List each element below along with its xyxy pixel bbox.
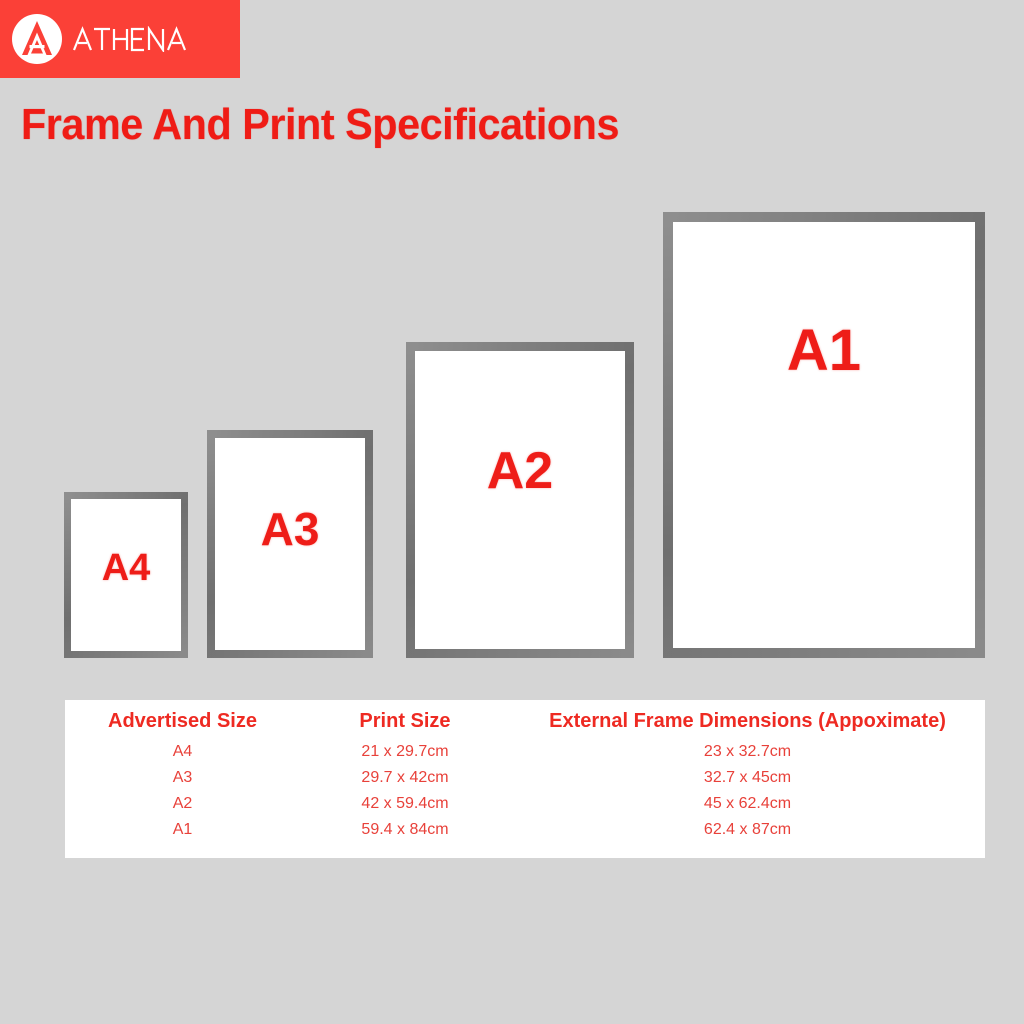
frame-a4: A4 [64,492,188,658]
table-cell: A1 [65,817,300,843]
table-row: A329.7 x 42cm32.7 x 45cm [65,765,985,791]
table-cell: A2 [65,791,300,817]
frame-label-a2: A2 [487,445,553,497]
table-cell: 32.7 x 45cm [510,765,985,791]
frame-a1: A1 [663,212,985,658]
column-header-print-size: Print Size [300,708,510,739]
table-cell: A3 [65,765,300,791]
table-row: A242 x 59.4cm45 x 62.4cm [65,791,985,817]
table-header-row: Advertised Size Print Size External Fram… [65,708,985,739]
frame-size-comparison: A4A3A2A1 [0,0,1024,1024]
table-cell: 42 x 59.4cm [300,791,510,817]
table-row: A159.4 x 84cm62.4 x 87cm [65,817,985,843]
column-header-advertised-size: Advertised Size [65,708,300,739]
spec-table-panel: Advertised Size Print Size External Fram… [65,700,985,858]
table-cell: 62.4 x 87cm [510,817,985,843]
column-header-external-frame-dimensions: External Frame Dimensions (Appoximate) [510,708,985,739]
frame-label-a3: A3 [261,506,320,552]
frame-a2: A2 [406,342,634,658]
table-cell: 29.7 x 42cm [300,765,510,791]
table-cell: 23 x 32.7cm [510,739,985,765]
table-cell: A4 [65,739,300,765]
table-cell: 21 x 29.7cm [300,739,510,765]
table-row: A421 x 29.7cm23 x 32.7cm [65,739,985,765]
spec-table: Advertised Size Print Size External Fram… [65,708,985,843]
table-body: A421 x 29.7cm23 x 32.7cmA329.7 x 42cm32.… [65,739,985,843]
table-cell: 45 x 62.4cm [510,791,985,817]
frame-label-a4: A4 [102,549,151,587]
frame-a3: A3 [207,430,373,658]
frame-label-a1: A1 [787,322,861,380]
table-cell: 59.4 x 84cm [300,817,510,843]
